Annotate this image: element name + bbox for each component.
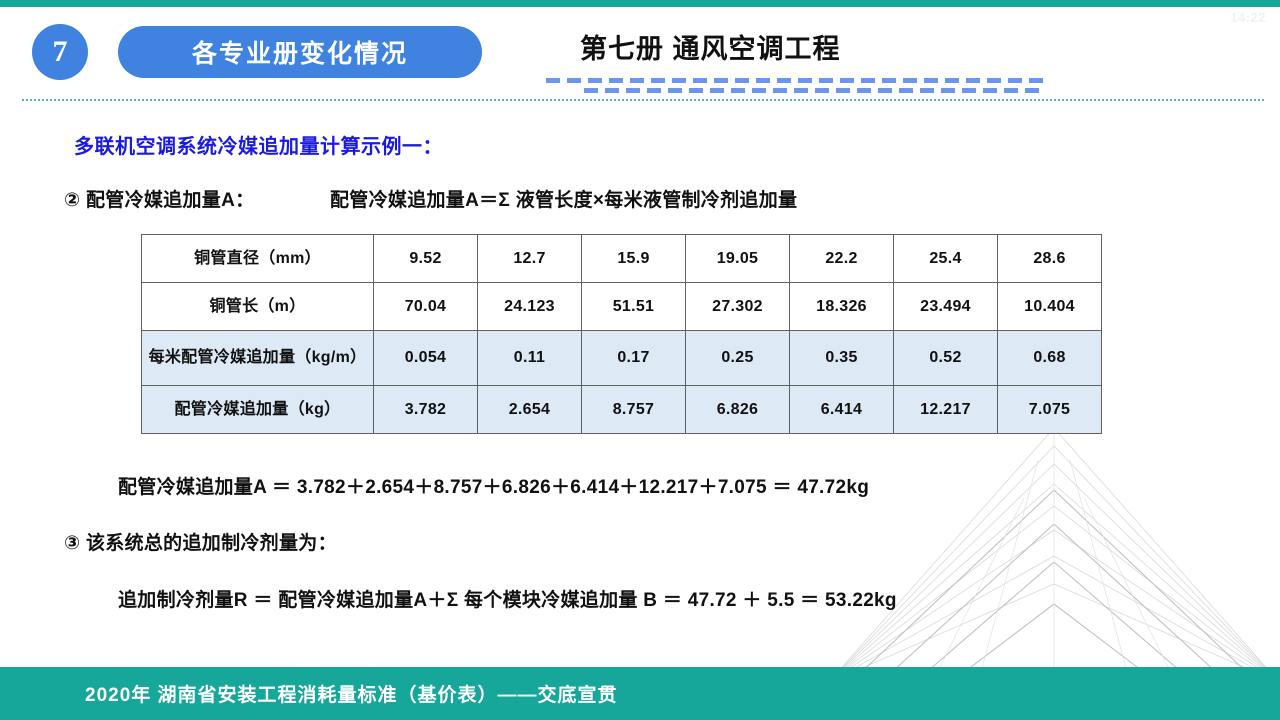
footer-bar: 2020年 湖南省安装工程消耗量标准（基价表）——交底宣贯 bbox=[0, 667, 1280, 720]
section-title-pill: 各专业册变化情况 bbox=[118, 26, 482, 78]
clock-label: 14:22 bbox=[1230, 10, 1266, 25]
footer-text: 2020年 湖南省安装工程消耗量标准（基价表）——交底宣贯 bbox=[85, 680, 618, 707]
top-accent-bar bbox=[0, 0, 1280, 7]
row-header-cell: 配管冷媒追加量（kg） bbox=[142, 386, 374, 434]
table-cell: 6.414 bbox=[790, 386, 894, 434]
table-cell: 7.075 bbox=[998, 386, 1102, 434]
table-cell: 12.217 bbox=[894, 386, 998, 434]
table-cell: 18.326 bbox=[790, 283, 894, 331]
table-cell: 8.757 bbox=[582, 386, 686, 434]
slide-canvas: 14:22 7 各专业册变化情况 第七册 通风空调工程 bbox=[0, 0, 1280, 720]
table-cell: 9.52 bbox=[374, 235, 478, 283]
row-header-cell: 每米配管冷媒追加量（kg/m） bbox=[142, 331, 374, 386]
table-cell: 0.054 bbox=[374, 331, 478, 386]
sum-a-formula: 配管冷媒追加量A ＝ 3.782＋2.654＋8.757＋6.826＋6.414… bbox=[118, 472, 869, 499]
table-cell: 0.25 bbox=[686, 331, 790, 386]
table-row: 每米配管冷媒追加量（kg/m） 0.054 0.11 0.17 0.25 0.3… bbox=[142, 331, 1102, 386]
table-cell: 15.9 bbox=[582, 235, 686, 283]
table-cell: 2.654 bbox=[478, 386, 582, 434]
table-cell: 12.7 bbox=[478, 235, 582, 283]
table-cell: 10.404 bbox=[998, 283, 1102, 331]
refrigerant-table: 铜管直径（mm） 9.52 12.7 15.9 19.05 22.2 25.4 … bbox=[141, 234, 1102, 434]
table-cell: 0.35 bbox=[790, 331, 894, 386]
section-subheading: 多联机空调系统冷媒追加量计算示例一： bbox=[74, 130, 443, 159]
section-number-badge: 7 bbox=[32, 24, 88, 80]
table-cell: 24.123 bbox=[478, 283, 582, 331]
table-cell: 51.51 bbox=[582, 283, 686, 331]
step-2-label: ② 配管冷媒追加量A： bbox=[64, 185, 254, 212]
table-row: 铜管直径（mm） 9.52 12.7 15.9 19.05 22.2 25.4 … bbox=[142, 235, 1102, 283]
table-cell: 22.2 bbox=[790, 235, 894, 283]
table-cell: 0.11 bbox=[478, 331, 582, 386]
table-cell: 27.302 bbox=[686, 283, 790, 331]
decorative-dash-row-top bbox=[546, 78, 1046, 84]
table-cell: 0.17 bbox=[582, 331, 686, 386]
building-watermark bbox=[828, 428, 1280, 683]
step-3-label: ③ 该系统总的追加制冷剂量为： bbox=[64, 528, 337, 555]
table-row: 铜管长（m） 70.04 24.123 51.51 27.302 18.326 … bbox=[142, 283, 1102, 331]
table-cell: 28.6 bbox=[998, 235, 1102, 283]
table-cell: 6.826 bbox=[686, 386, 790, 434]
table-cell: 3.782 bbox=[374, 386, 478, 434]
table-cell: 23.494 bbox=[894, 283, 998, 331]
decorative-dash-row-bottom bbox=[584, 88, 1050, 94]
step-2-formula: 配管冷媒追加量A＝Σ 液管长度×每米液管制冷剂追加量 bbox=[330, 185, 797, 212]
table-row: 配管冷媒追加量（kg） 3.782 2.654 8.757 6.826 6.41… bbox=[142, 386, 1102, 434]
total-refrigerant-formula: 追加制冷剂量R ＝ 配管冷媒追加量A＋Σ 每个模块冷媒追加量 B ＝ 47.72… bbox=[118, 585, 897, 612]
table-cell: 25.4 bbox=[894, 235, 998, 283]
table-cell: 70.04 bbox=[374, 283, 478, 331]
table-cell: 19.05 bbox=[686, 235, 790, 283]
row-header-cell: 铜管长（m） bbox=[142, 283, 374, 331]
table-cell: 0.68 bbox=[998, 331, 1102, 386]
chapter-title: 第七册 通风空调工程 bbox=[580, 27, 841, 66]
row-header-cell: 铜管直径（mm） bbox=[142, 235, 374, 283]
table-cell: 0.52 bbox=[894, 331, 998, 386]
header-divider bbox=[22, 99, 1264, 101]
